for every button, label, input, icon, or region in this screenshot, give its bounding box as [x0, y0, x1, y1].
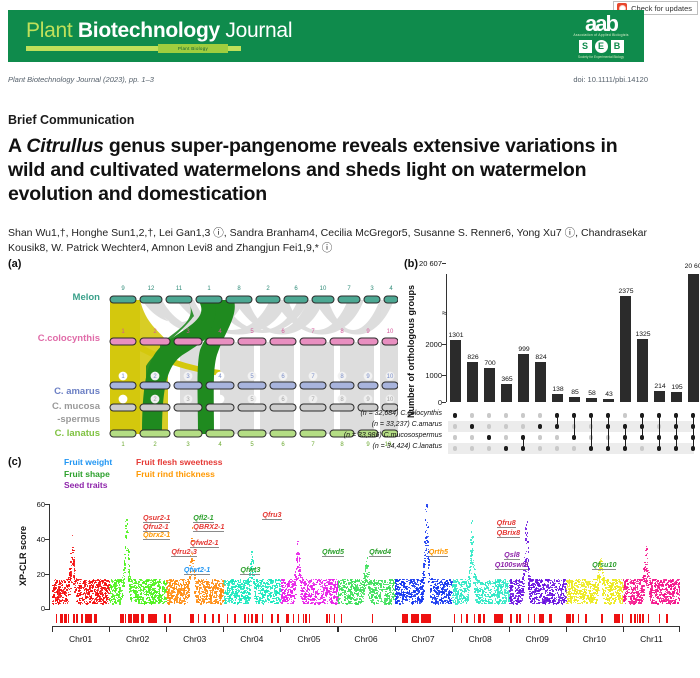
matrix-row-amarus: (n = 33,237) C.amarus: [448, 421, 694, 432]
snp-tick: [510, 614, 512, 623]
snp-tick: [244, 614, 246, 623]
qtl-label-qfl2-1: Qfl2-1: [193, 513, 213, 522]
svg-text:10: 10: [387, 397, 394, 403]
bar-138: [552, 394, 563, 402]
bar-999: [518, 354, 529, 402]
aab-logo-subtitle: Association of Applied Biologists: [568, 33, 634, 37]
snp-tick: [68, 614, 70, 623]
qtl-label-qfwd5: Qfwd5: [322, 547, 344, 556]
panel-a-label: (a): [8, 258, 21, 270]
synteny-svg: 91211 182 6107 34 123 456 789 10: [102, 270, 398, 448]
snp-tick: [305, 614, 307, 623]
qtl-annotation-layer: Qbrx2-1Qfru2-1Qsur2-1Qfru2-3Qfwd2-1QBRX2…: [52, 498, 680, 610]
qtl-label-qfwd2-1: Qfwd2-1: [190, 538, 218, 547]
chr-label-Chr06: Chr06: [337, 634, 394, 644]
legend-flesh-sweetness: Fruit flesh sweetness: [136, 457, 222, 469]
snp-tick: [125, 614, 127, 623]
bar-58: [586, 398, 597, 402]
bar-label-13: 195: [666, 384, 688, 391]
snp-tick: [271, 614, 273, 623]
snp-tick: [429, 614, 431, 623]
snp-tick: [170, 614, 172, 623]
snp-tick: [81, 614, 83, 623]
snp-tick: [90, 614, 92, 623]
svg-text:12: 12: [148, 286, 155, 292]
panel-b-axis-break: ≈: [442, 308, 447, 318]
qtl-label-qfsu10: Qfsu10: [592, 560, 616, 569]
snp-tick: [286, 614, 288, 623]
snp-tick: [466, 614, 468, 623]
species-label-lanatus: C. lanatus: [55, 428, 100, 439]
matrix-row-colocynthis: (n = 32,684) C.colocynthis: [448, 410, 694, 421]
snp-tick: [572, 614, 574, 623]
panel-c-manhattan-plot: Fruit weight Fruit shape Seed traits Fru…: [0, 454, 700, 674]
snp-tick: [617, 614, 619, 623]
snp-tick: [478, 614, 480, 623]
seb-logo: S E B: [568, 40, 634, 53]
seb-logo-subtitle: Society for Experimental Biology: [568, 55, 634, 59]
snp-tick: [474, 614, 476, 623]
svg-text:3: 3: [186, 442, 190, 448]
svg-text:1: 1: [207, 286, 211, 292]
snp-tick: [539, 614, 541, 623]
snp-tick: [648, 614, 650, 623]
svg-text:4: 4: [218, 442, 222, 448]
snp-tick: [192, 614, 194, 623]
snp-tick: [218, 614, 220, 623]
journal-masthead: Plant Biotechnology Journal Plant Biolog…: [8, 10, 644, 62]
chr-label-Chr10: Chr10: [566, 634, 623, 644]
snp-tick: [329, 614, 331, 623]
snp-tick: [614, 614, 616, 623]
panel-b-upset-plot: Number of orthologous groups 20 607 2000…: [404, 260, 696, 456]
snp-tick: [198, 614, 200, 623]
bar-label-2: 700: [479, 360, 501, 367]
chr-label-Chr08: Chr08: [452, 634, 509, 644]
journal-title-word1: Plant: [26, 19, 72, 42]
snp-tick: [60, 614, 62, 623]
svg-text:11: 11: [176, 286, 183, 292]
snp-tick: [334, 614, 336, 623]
chr-label-Chr11: Chr11: [623, 634, 680, 644]
chr-label-Chr03: Chr03: [166, 634, 223, 644]
snp-tick: [516, 614, 518, 623]
title-part2: genus super-pangenome reveals extensive: [104, 135, 500, 157]
set-label-lanatus: (n = 34,424) C.lanatus: [373, 443, 442, 450]
snp-tick: [212, 614, 214, 623]
b-ytick-1000: 1000: [410, 371, 442, 380]
panel-c-ylabel: XP-CLR score: [18, 506, 30, 606]
snp-tick: [252, 614, 254, 623]
snp-tick: [88, 614, 90, 623]
svg-text:10: 10: [320, 286, 327, 292]
snp-tick: [551, 614, 553, 623]
snp-tick: [303, 614, 305, 623]
snp-tick: [372, 614, 374, 623]
snp-tick: [578, 614, 580, 623]
snp-tick: [501, 614, 503, 623]
snp-tick: [204, 614, 206, 623]
svg-text:10: 10: [387, 374, 394, 380]
svg-text:3: 3: [370, 286, 374, 292]
title-genus-italic: Citrullus: [26, 135, 103, 157]
bar-label-10: 2375: [615, 288, 637, 295]
snp-tick: [634, 614, 636, 623]
panel-c-legend: Fruit weight Fruit shape Seed traits Fru…: [64, 457, 222, 492]
snp-tick: [534, 614, 536, 623]
snp-tick: [541, 614, 543, 623]
panel-a-ribbon-canvas: 91211 182 6107 34 123 456 789 10: [102, 270, 398, 448]
svg-text:8: 8: [237, 286, 241, 292]
legend-rind-thickness: Fruit rind thickness: [136, 469, 222, 481]
snp-tick: [601, 614, 603, 623]
snp-tick: [418, 614, 420, 623]
snp-tick: [293, 614, 295, 623]
snp-tick: [142, 614, 144, 623]
snp-tick: [520, 614, 522, 623]
seb-letter-e: E: [595, 40, 608, 53]
svg-text:9: 9: [366, 442, 370, 448]
snp-tick: [495, 614, 497, 623]
svg-text:7: 7: [347, 286, 351, 292]
chr-label-Chr04: Chr04: [223, 634, 280, 644]
snp-tick: [133, 614, 135, 623]
panel-b-bars: 1301 826 700 365 999 824 138 85 58 43 23…: [448, 274, 694, 402]
snp-tick: [155, 614, 157, 623]
snp-tick: [95, 614, 97, 623]
snp-tick: [227, 614, 229, 623]
chromosome-labels: Chr01Chr02Chr03Chr04Chr05Chr06Chr07Chr08…: [52, 634, 680, 648]
set-label-mucosospermus: (n = 33,986) C.mucosospermus: [344, 432, 442, 439]
panel-a-species-labels: Melon C.colocynthis C. amarus C. mucosa …: [8, 270, 100, 448]
snp-tick: [413, 614, 415, 623]
c-ytick-60: 60: [27, 500, 45, 509]
publisher-logos: aab Association of Applied Biologists S …: [568, 14, 634, 59]
c-ytick-20: 20: [27, 570, 45, 579]
qtl-label-qfwt3: Qfwt3: [240, 565, 260, 574]
title-part1: A: [8, 135, 26, 157]
legend-seed-traits: Seed traits: [64, 480, 136, 492]
svg-text:5: 5: [250, 442, 254, 448]
aab-logo: aab: [568, 14, 634, 34]
snp-tick: [120, 614, 122, 623]
bar-label-9: 43: [598, 391, 620, 398]
seb-letter-b: B: [611, 40, 624, 53]
bar-365: [501, 384, 512, 402]
snp-tick: [234, 614, 236, 623]
seb-letter-s: S: [579, 40, 592, 53]
c-ytick-0: 0: [27, 604, 45, 613]
qtl-label-qfru2-3: Qfru2-3: [171, 547, 197, 556]
bar-label-14: 20 607: [678, 263, 700, 270]
legend-fruit-weight: Fruit weight: [64, 457, 136, 469]
qtl-label-qsur2-1: Qsur2-1: [143, 513, 170, 522]
snp-tick: [76, 614, 78, 623]
snp-tick: [130, 614, 132, 623]
bar-label-5: 824: [530, 354, 552, 361]
legend-fruit-shape: Fruit shape: [64, 469, 136, 481]
svg-text:10: 10: [387, 329, 394, 335]
snp-tick: [309, 614, 311, 623]
b-ytick-2000: 2000: [410, 340, 442, 349]
svg-text:7: 7: [311, 442, 315, 448]
bar-1325: [637, 339, 648, 402]
author-list[interactable]: Shan Wu1,†, Honghe Sun1,2,†, Lei Gan1,3 …: [8, 226, 648, 256]
snp-tick: [277, 614, 279, 623]
chr-label-Chr07: Chr07: [395, 634, 452, 644]
bar-label-11: 1325: [632, 331, 654, 338]
panel-c-yaxis: [49, 504, 50, 610]
qtl-label-qfwd4: Qfwd4: [369, 547, 391, 556]
snp-tick: [137, 614, 139, 623]
snp-tick: [461, 614, 463, 623]
species-label-amarus: C. amarus: [54, 386, 100, 397]
snp-tick: [64, 614, 66, 623]
bar-2375: [620, 296, 631, 402]
chromosome-axis: [52, 626, 680, 633]
bar-label-4: 999: [513, 346, 535, 353]
svg-text:6: 6: [281, 442, 285, 448]
chr-label-Chr09: Chr09: [509, 634, 566, 644]
snp-tick: [248, 614, 250, 623]
bar-1301: [450, 340, 461, 402]
chr-label-Chr02: Chr02: [109, 634, 166, 644]
matrix-row-mucosospermus: (n = 33,986) C.mucosospermus: [448, 432, 694, 443]
snp-tick: [622, 614, 624, 623]
snp-tick: [262, 614, 264, 623]
bar-label-3: 365: [496, 376, 518, 383]
snp-tick: [659, 614, 661, 623]
qtl-label-qfru3: Qfru3: [262, 510, 281, 519]
qtl-label-qbrx2-1: QBRX2-1: [193, 522, 224, 531]
snp-tick: [56, 614, 58, 623]
running-head: Plant Biotechnology Journal (2023), pp. …: [8, 75, 154, 84]
snp-tick: [630, 614, 632, 623]
snp-tick: [164, 614, 166, 623]
svg-text:1: 1: [121, 442, 125, 448]
snp-tick: [406, 614, 408, 623]
bar-195: [671, 392, 682, 402]
qtl-label-qfru8: Qfru8: [497, 518, 516, 527]
bar-826: [467, 362, 478, 402]
bar-700: [484, 368, 495, 402]
article-type: Brief Communication: [8, 113, 134, 127]
species-label-colocynthis: C.colocynthis: [38, 333, 100, 344]
svg-text:2: 2: [153, 442, 157, 448]
selected-snp-track: [52, 614, 680, 623]
snp-tick: [255, 614, 257, 623]
snp-tick: [152, 614, 154, 623]
snp-tick: [298, 614, 300, 623]
species-label-melon: Melon: [73, 292, 100, 303]
b-ytick-top: 20 607: [410, 259, 442, 268]
qtl-label-qfru2-1: Qfru2-1: [143, 522, 169, 531]
svg-text:2: 2: [266, 286, 270, 292]
snp-tick: [454, 614, 456, 623]
bar-20607: [688, 274, 699, 402]
qtl-label-q100swt8: Q100swt8: [495, 560, 529, 569]
svg-text:6: 6: [294, 286, 298, 292]
snp-tick: [642, 614, 644, 623]
panel-b-set-matrix: (n = 32,684) C.colocynthis (n = 33,237) …: [448, 410, 694, 454]
qtl-label-qfwt2-1: Qfwt2-1: [184, 565, 210, 574]
species-label-mucosa: C. mucosa: [52, 401, 100, 412]
snp-tick: [73, 614, 75, 623]
snp-tick: [326, 614, 328, 623]
snp-tick: [639, 614, 641, 623]
bar-label-0: 1301: [445, 332, 467, 339]
snp-tick: [637, 614, 639, 623]
svg-text:8: 8: [340, 442, 344, 448]
bar-43: [603, 399, 614, 402]
bar-85: [569, 397, 580, 402]
set-label-amarus: (n = 33,237) C.amarus: [372, 421, 442, 428]
chr-label-Chr05: Chr05: [280, 634, 337, 644]
bar-824: [535, 362, 546, 402]
snp-tick: [569, 614, 571, 623]
snp-tick: [484, 614, 486, 623]
b-ytick-0: 0: [410, 398, 442, 407]
snp-tick: [85, 614, 87, 623]
doi-text[interactable]: doi: 10.1111/pbi.14120: [573, 75, 648, 84]
panel-a-synteny-plot: Melon C.colocynthis C. amarus C. mucosa …: [8, 270, 400, 448]
snp-tick: [402, 614, 404, 623]
set-label-colocynthis: (n = 32,684) C.colocynthis: [360, 410, 442, 417]
journal-title-word3: Journal: [225, 19, 292, 42]
bar-214: [654, 391, 665, 402]
page-title: A Citrullus genus super-pangenome reveal…: [8, 134, 618, 206]
svg-text:9: 9: [121, 286, 125, 292]
svg-text:4: 4: [389, 286, 393, 292]
snp-tick: [542, 614, 544, 623]
qtl-label-qrth5: Qrth5: [429, 547, 448, 556]
snp-tick: [528, 614, 530, 623]
snp-tick: [415, 614, 417, 623]
chr-label-Chr01: Chr01: [52, 634, 109, 644]
snp-tick: [129, 614, 131, 623]
matrix-row-lanatus: (n = 34,424) C.lanatus: [448, 443, 694, 454]
snp-tick: [423, 614, 425, 623]
snp-tick: [427, 614, 429, 623]
journal-title: Plant Biotechnology Journal: [26, 19, 292, 43]
snp-tick: [666, 614, 668, 623]
journal-title-word2: Biotechnology: [78, 19, 220, 42]
qtl-label-qsl8: Qsl8: [504, 550, 520, 559]
snp-tick: [585, 614, 587, 623]
figure-container: (a) Melon C.colocynthis C. amarus C. muc…: [0, 258, 700, 678]
snp-tick: [341, 614, 343, 623]
qtl-label-qbrix8: QBrix8: [497, 528, 521, 537]
species-label-spermus: -spermus: [57, 414, 100, 425]
masthead-rule-tag: Plant Biology: [158, 44, 228, 53]
c-ytick-40: 40: [27, 535, 45, 544]
